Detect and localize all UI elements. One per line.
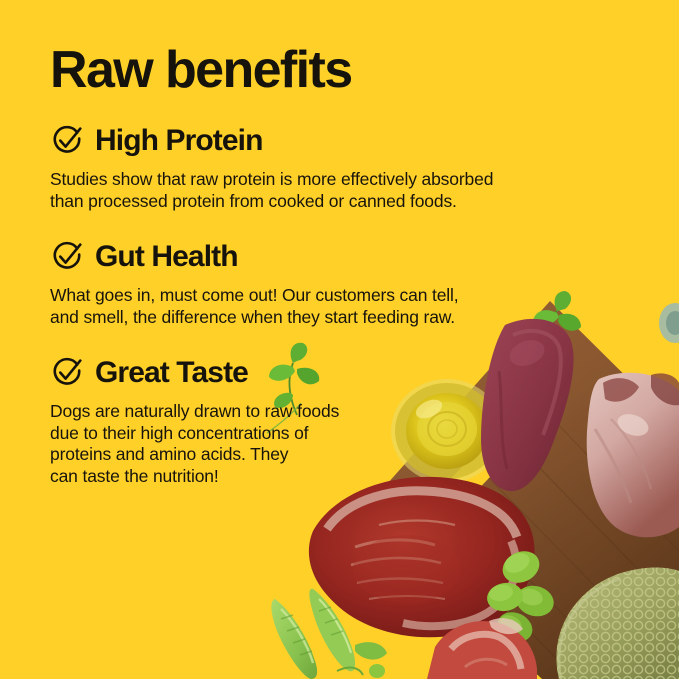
benefit-item-great-taste: Great Taste Dogs are naturally drawn to … — [50, 354, 590, 487]
check-circle-icon — [50, 240, 84, 274]
poster-canvas: Raw benefits High Protein Studies show t… — [0, 0, 679, 679]
content-column: Raw benefits High Protein Studies show t… — [50, 0, 590, 505]
benefit-description: Studies show that raw protein is more ef… — [50, 169, 590, 212]
benefit-item-high-protein: High Protein Studies show that raw prote… — [50, 122, 590, 212]
benefit-description: Dogs are naturally drawn to raw foods du… — [50, 401, 590, 487]
benefit-title: Great Taste — [95, 358, 248, 388]
benefit-title: High Protein — [95, 126, 263, 156]
benefit-item-gut-health: Gut Health What goes in, must come out! … — [50, 238, 590, 328]
check-circle-icon — [50, 124, 84, 158]
benefit-heading-row: Gut Health — [50, 238, 590, 276]
benefit-description: What goes in, must come out! Our custome… — [50, 285, 590, 328]
benefit-heading-row: High Protein — [50, 122, 590, 160]
benefit-heading-row: Great Taste — [50, 354, 590, 392]
check-circle-icon — [50, 356, 84, 390]
benefit-title: Gut Health — [95, 242, 238, 272]
page-title: Raw benefits — [50, 0, 590, 96]
